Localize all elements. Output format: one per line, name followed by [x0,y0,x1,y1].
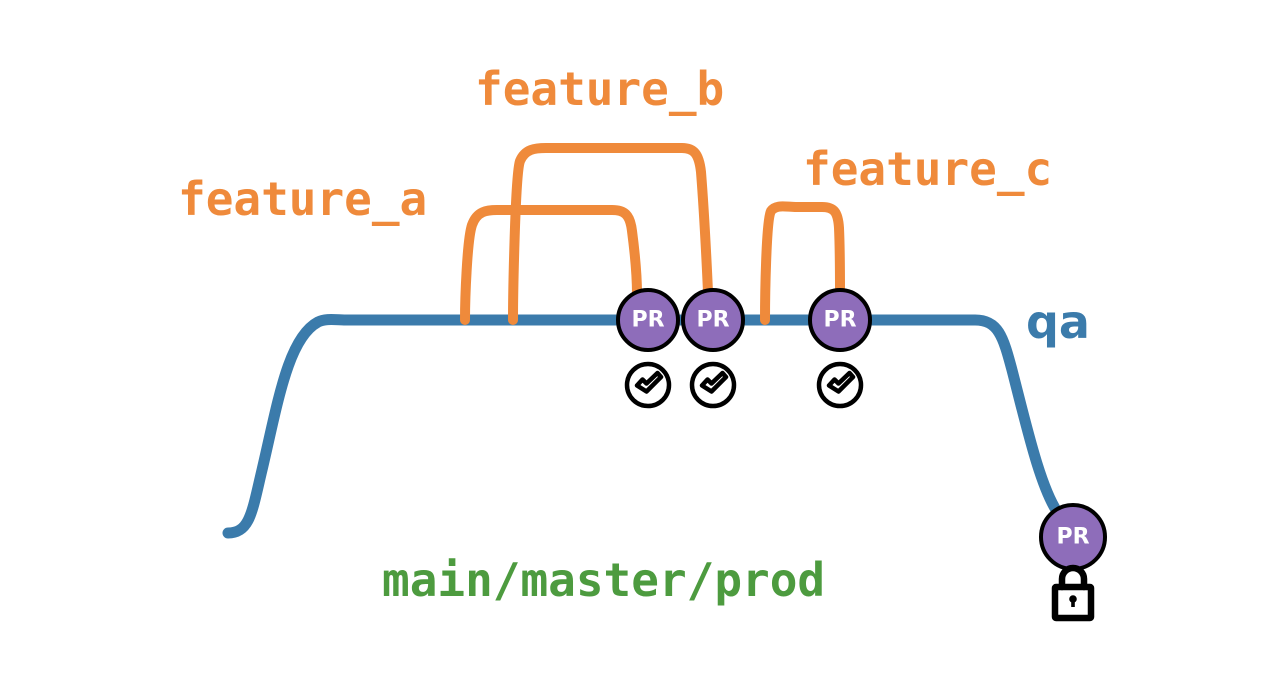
feature-a-branch-line[interactable] [465,210,637,320]
pr-node-label: PR [696,308,729,333]
pr-node-4[interactable]: PR [1041,505,1105,569]
check-circle-icon [692,364,734,406]
lock-keyhole-stem [1071,599,1075,607]
main-branch-label: main/master/prod [382,553,825,607]
feature-a-label: feature_a [178,172,427,226]
feature-b-label: feature_b [475,62,724,116]
lock-icon [1055,568,1091,618]
check-circle-icon [627,364,669,406]
feature-c-label: feature_c [803,142,1052,196]
pr-node-3[interactable]: PR [810,290,870,350]
pr-node-2[interactable]: PR [683,290,743,350]
pr-node-label: PR [631,308,664,333]
check-circle-icon [819,364,861,406]
pr-node-label: PR [1056,525,1089,550]
qa-branch-label: qa [1026,295,1090,349]
feature-b-branch-line[interactable] [513,148,708,320]
git-flow-canvas: PR PR PR PR [0,0,1288,678]
git-flow-diagram: PR PR PR PR [0,0,1288,678]
pr-node-label: PR [823,308,856,333]
pr-node-1[interactable]: PR [618,290,678,350]
